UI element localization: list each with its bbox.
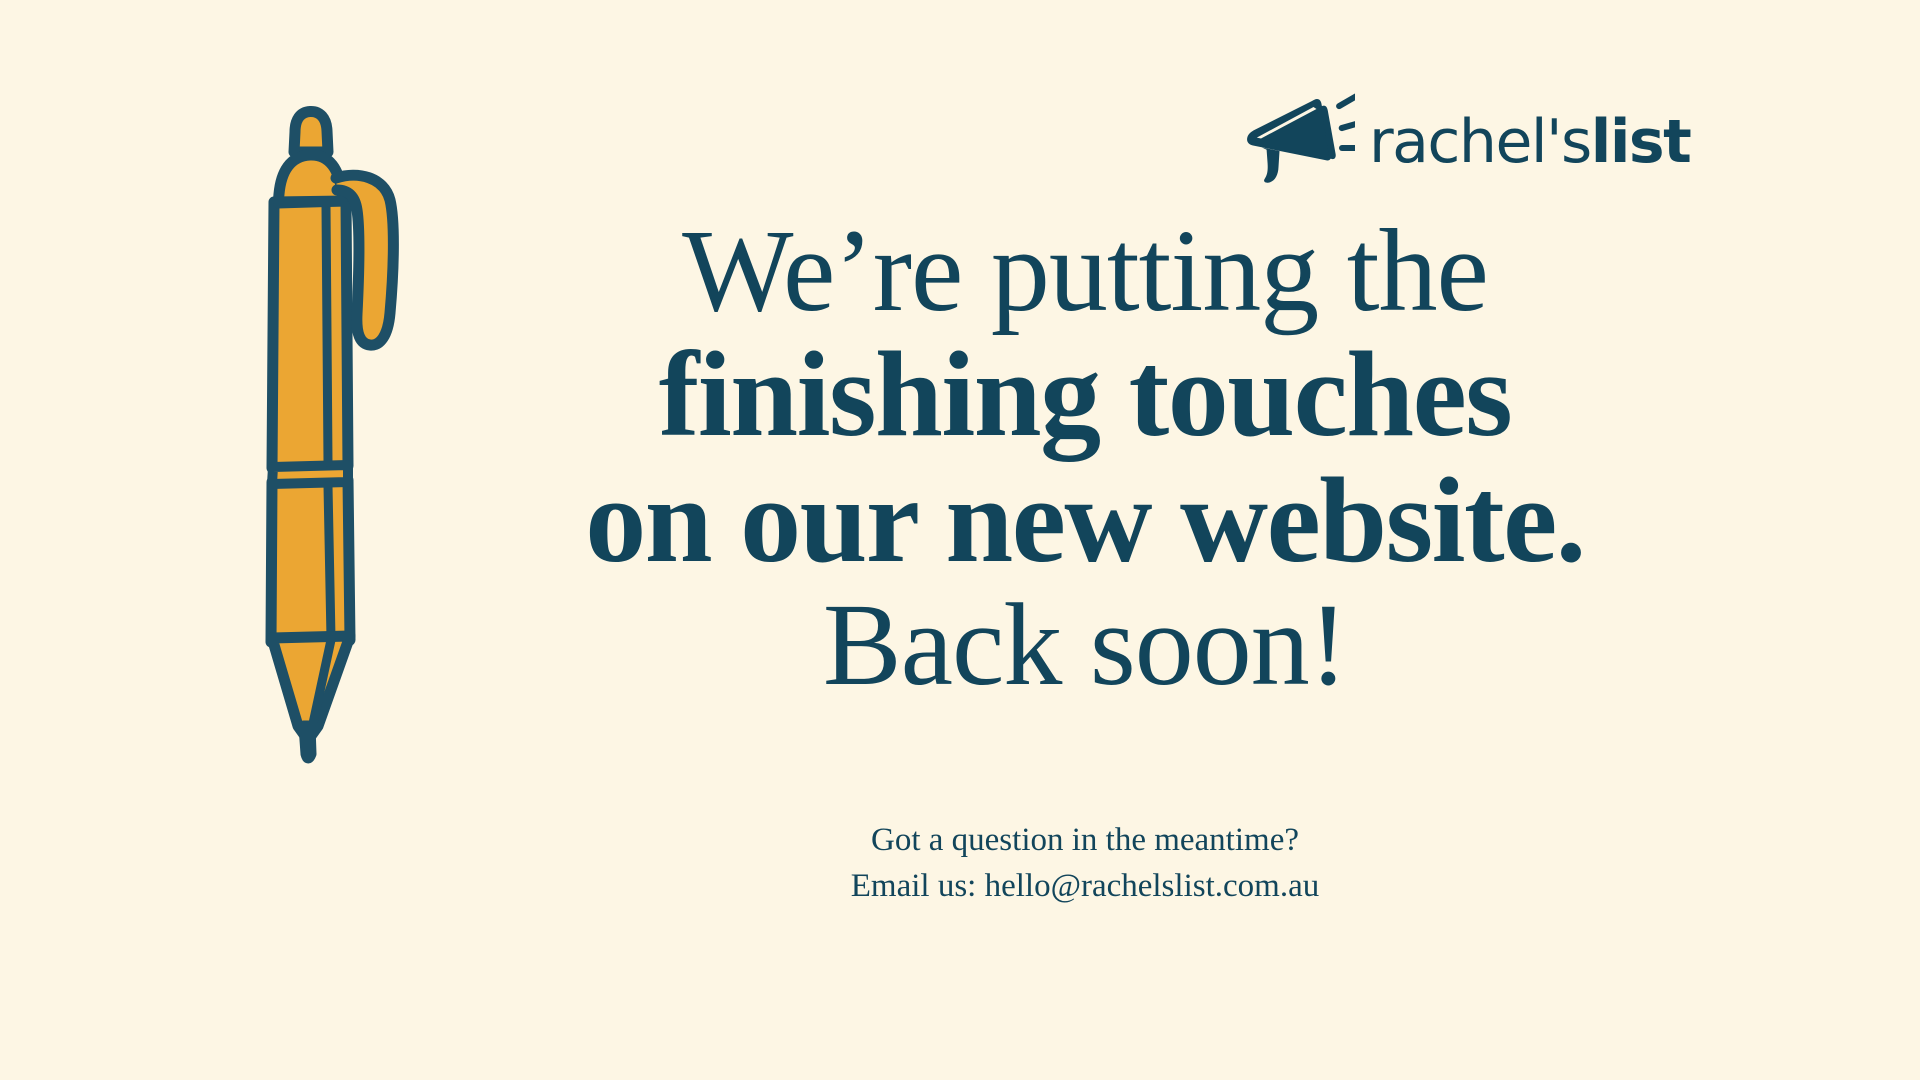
contact-email-line[interactable]: Email us: hello@rachelslist.com.au [470, 864, 1700, 910]
headline-block: We’re putting the finishing touches on o… [470, 212, 1700, 704]
contact-block: Got a question in the meantime? Email us… [470, 818, 1700, 909]
headline-line-1: We’re putting the [470, 212, 1700, 330]
megaphone-icon [1243, 93, 1355, 189]
contact-prompt: Got a question in the meantime? [470, 818, 1700, 864]
logo-word-rachels: rachel's [1369, 107, 1591, 177]
rachels-list-logo[interactable]: rachel'slist [1243, 92, 1663, 190]
logo-wordmark: rachel'slist [1369, 112, 1690, 172]
logo-word-list: list [1591, 107, 1691, 177]
coming-soon-page: rachel'slist [0, 0, 1920, 1080]
headline-line-2: finishing touches [470, 334, 1700, 456]
ballpoint-pen-illustration [238, 78, 504, 778]
headline-line-3: on our new website. [470, 460, 1700, 582]
headline-line-4: Back soon! [470, 586, 1700, 704]
